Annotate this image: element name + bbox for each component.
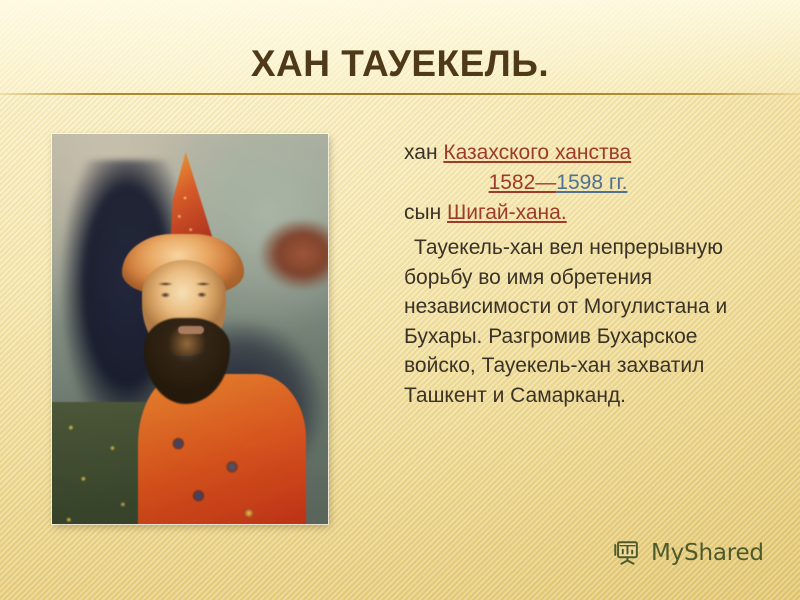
myshared-logo[interactable]: MyShared bbox=[612, 538, 764, 568]
line-reign-years: 1582—1598 гг. bbox=[404, 168, 740, 198]
line-father: сын Шигай-хана. bbox=[404, 198, 740, 228]
body-paragraph: Тауекель-хан вел непрерывную борьбу во и… bbox=[404, 233, 740, 410]
link-year-start[interactable]: 1582— bbox=[489, 171, 557, 194]
slide-canvas: Хан Тауекель. Хан Тауекель. тахире ҚАЗАҚ… bbox=[0, 0, 800, 600]
link-year-end[interactable]: 1598 гг. bbox=[556, 171, 627, 194]
painting-soft-overlay bbox=[52, 134, 328, 524]
link-kazakh-khanate[interactable]: Казахского ханства bbox=[443, 141, 631, 164]
page-title: Хан Тауекель. bbox=[251, 38, 549, 90]
presentation-chart-icon bbox=[612, 538, 642, 568]
line-khanate: хан Казахского ханства bbox=[404, 138, 740, 168]
portrait-image: тахире ҚАЗАҚ ХАНДЫҒЫ ТАРИХЫ bbox=[52, 134, 328, 524]
line-father-prefix: сын bbox=[404, 201, 447, 224]
myshared-logo-text: MyShared bbox=[651, 542, 764, 565]
title-divider bbox=[0, 93, 800, 95]
title-reflection: Хан Тауекель. bbox=[0, 93, 800, 127]
link-shigay-khan[interactable]: Шигай-хана. bbox=[447, 201, 567, 224]
text-column: хан Казахского ханства 1582—1598 гг. сын… bbox=[404, 138, 740, 410]
title-block: Хан Тауекель. bbox=[0, 38, 800, 96]
line-khanate-prefix: хан bbox=[404, 141, 443, 164]
